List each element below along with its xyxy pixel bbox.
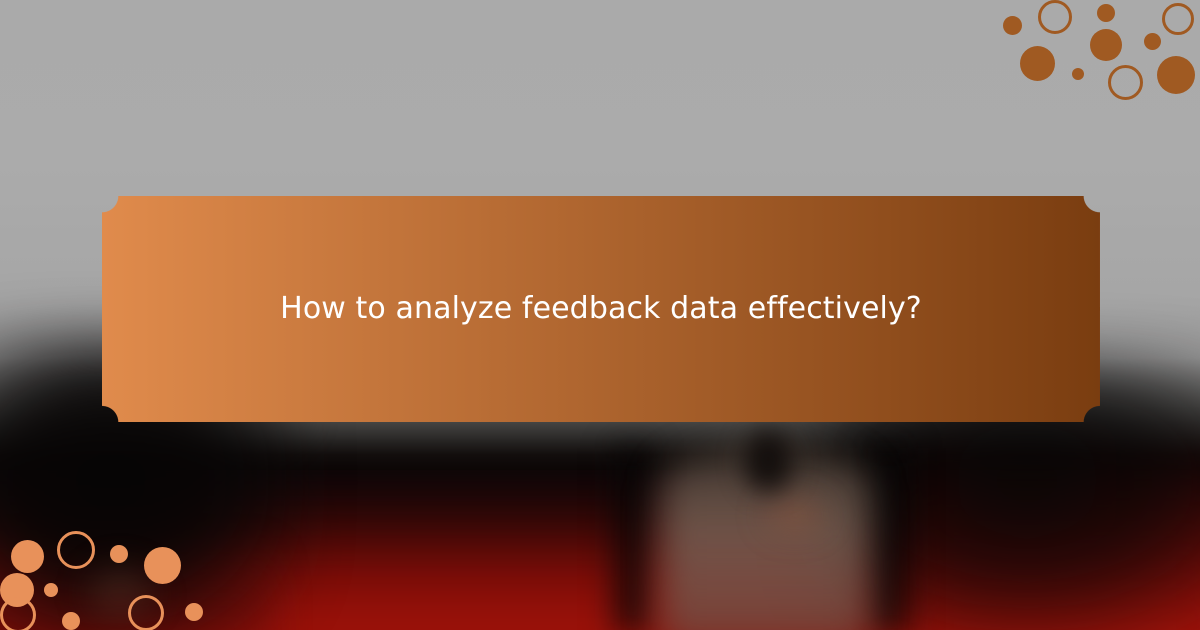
decorative-circle-filled bbox=[110, 545, 128, 563]
decorative-circle-ring bbox=[128, 595, 164, 630]
decorative-circle-filled bbox=[44, 583, 58, 597]
decorative-circle-filled bbox=[62, 612, 80, 630]
title-banner: How to analyze feedback data effectively… bbox=[102, 196, 1100, 422]
decorative-circle-ring bbox=[0, 597, 36, 630]
decorative-circle-ring bbox=[57, 531, 95, 569]
decorative-circle-filled bbox=[185, 603, 203, 621]
decorative-circle-filled bbox=[144, 547, 181, 584]
page-title: How to analyze feedback data effectively… bbox=[240, 290, 962, 328]
decorative-circle-filled bbox=[11, 540, 44, 573]
social-card: How to analyze feedback data effectively… bbox=[0, 0, 1200, 630]
